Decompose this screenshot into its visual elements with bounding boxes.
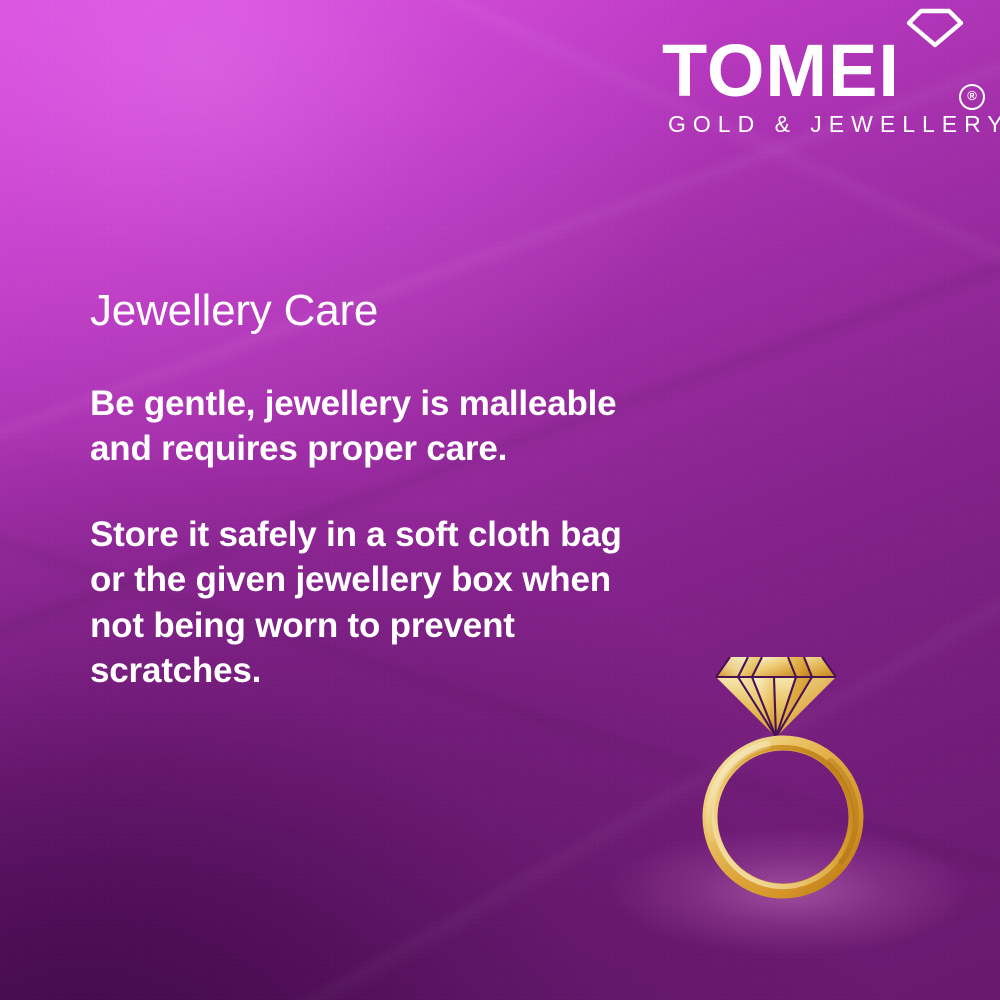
- brand-tagline: GOLD & JEWELLERY: [668, 111, 1000, 138]
- brand-wordmark: TOMEI: [662, 34, 900, 108]
- gold-band: [710, 743, 856, 891]
- brand-logo: TOMEI ® GOLD & JEWELLERY: [662, 8, 987, 138]
- diamond-outline-icon: [906, 8, 964, 48]
- copy-block: Jewellery Care Be gentle, jewellery is m…: [90, 288, 650, 694]
- care-paragraph-2: Store it safely in a soft cloth bag or t…: [90, 512, 650, 694]
- jewellery-care-poster: TOMEI ® GOLD & JEWELLERY Jewellery Care …: [0, 0, 1000, 1000]
- gemstone: [716, 657, 836, 737]
- care-paragraph-1: Be gentle, jewellery is malleable and re…: [90, 381, 650, 472]
- registered-trademark-icon: ®: [959, 84, 985, 110]
- page-title: Jewellery Care: [90, 288, 650, 335]
- diamond-ring-illustration: [700, 645, 876, 905]
